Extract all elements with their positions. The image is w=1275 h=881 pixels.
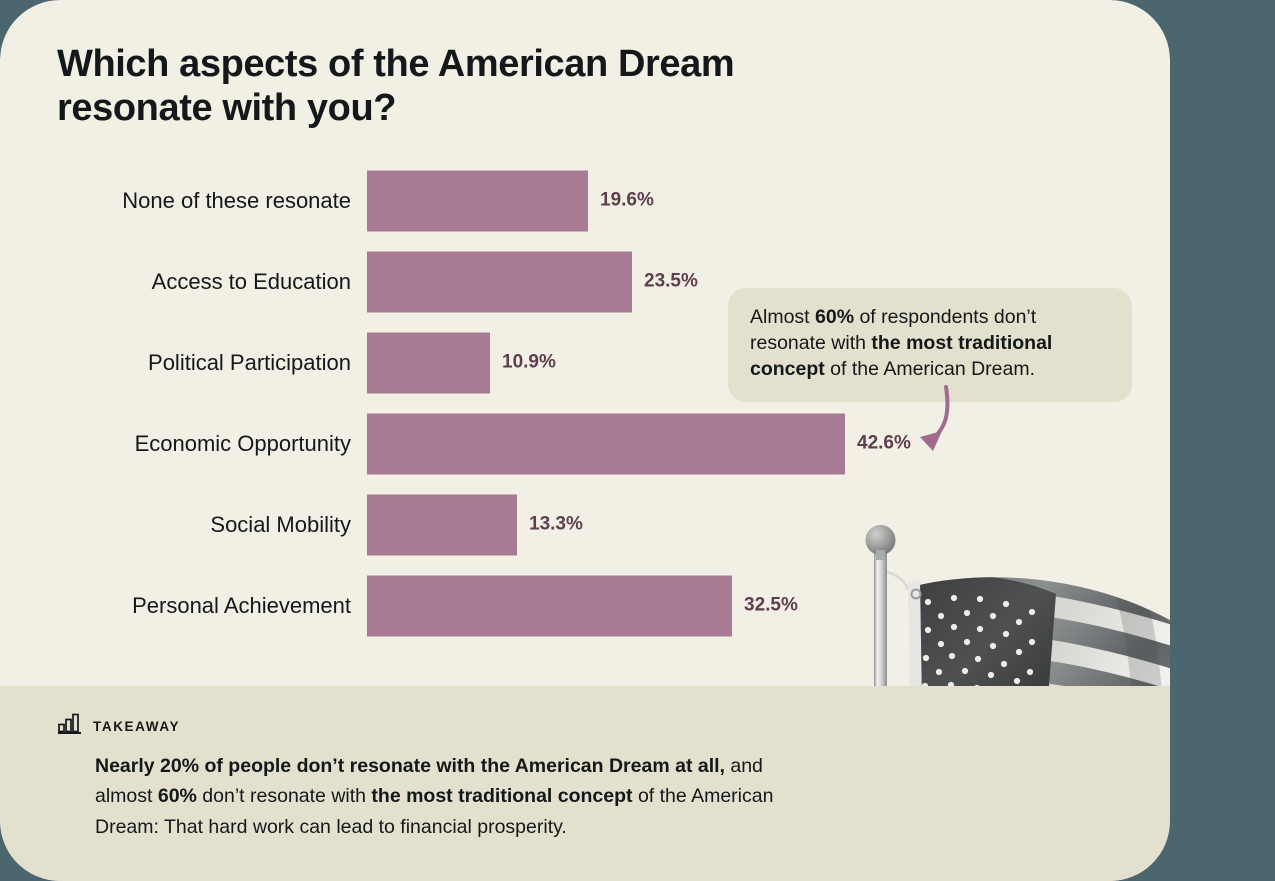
chart-row: Social Mobility 13.3% [0, 484, 1170, 565]
chart-row: None of these resonate 19.6% [0, 160, 1170, 241]
bar-rect [367, 332, 490, 393]
bar-rect [367, 413, 845, 474]
takeaway-bold-traditional: the most traditional concept [371, 785, 632, 807]
callout-bold-60: 60% [815, 306, 854, 328]
infographic-card: Which aspects of the American Dream reso… [0, 0, 1170, 881]
callout-annotation: Almost 60% of respondents don’t resonate… [728, 288, 1132, 402]
bar-rect [367, 575, 732, 636]
takeaway-band: TAKEAWAY Nearly 20% of people don’t reso… [0, 686, 1170, 881]
bar-chart-icon [58, 713, 82, 740]
bar-label: Political Participation [0, 350, 351, 376]
bar-container: 10.9% [367, 332, 556, 393]
bar-label: Social Mobility [0, 512, 351, 538]
bar-label: None of these resonate [0, 188, 351, 214]
callout-text-part3: of the American Dream. [825, 358, 1035, 380]
bar-container: 42.6% [367, 413, 911, 474]
bar-value-label: 32.5% [744, 595, 798, 617]
chart-row: Personal Achievement 32.5% [0, 565, 1170, 646]
chart-row: Economic Opportunity 42.6% [0, 403, 1170, 484]
bar-value-label: 19.6% [600, 190, 654, 212]
bar-label: Economic Opportunity [0, 431, 351, 457]
bar-container: 13.3% [367, 494, 583, 555]
bar-value-label: 42.6% [857, 433, 911, 455]
takeaway-label: TAKEAWAY [93, 719, 180, 734]
callout-text-part1: Almost [750, 306, 815, 328]
takeaway-body: Nearly 20% of people don’t resonate with… [95, 751, 825, 842]
bar-value-label: 13.3% [529, 514, 583, 536]
bar-chart: None of these resonate 19.6% Access to E… [0, 160, 1170, 646]
page-title: Which aspects of the American Dream reso… [57, 42, 887, 131]
takeaway-header: TAKEAWAY [58, 713, 180, 740]
takeaway-part-3: don’t resonate with [197, 785, 372, 807]
bar-container: 19.6% [367, 170, 654, 231]
bar-rect [367, 251, 632, 312]
bar-rect [367, 170, 588, 231]
bar-value-label: 23.5% [644, 271, 698, 293]
bar-container: 32.5% [367, 575, 798, 636]
bar-label: Access to Education [0, 269, 351, 295]
takeaway-bold-1: Nearly 20% of people don’t resonate with… [95, 755, 725, 777]
takeaway-bold-60: 60% [158, 785, 197, 807]
bar-container: 23.5% [367, 251, 698, 312]
bar-label: Personal Achievement [0, 593, 351, 619]
bar-value-label: 10.9% [502, 352, 556, 374]
bar-rect [367, 494, 517, 555]
